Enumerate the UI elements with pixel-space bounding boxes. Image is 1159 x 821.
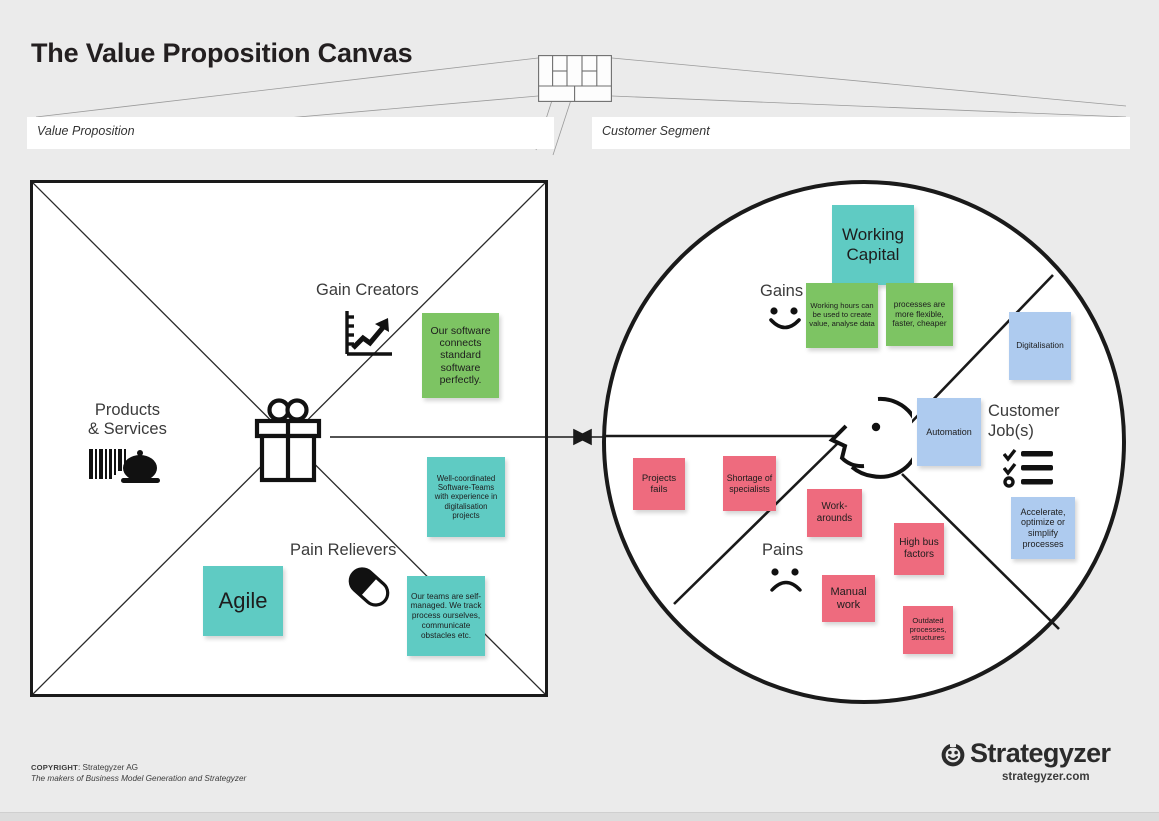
value-proposition-header-bar: Value Proposition [27, 117, 554, 149]
gift-box-icon [253, 398, 323, 486]
sticky-note[interactable]: Projects fails [633, 458, 685, 510]
sticky-note[interactable]: Work-arounds [807, 489, 862, 537]
sticky-note[interactable]: Agile [203, 566, 283, 636]
sticky-note[interactable]: processes are more flexible, faster, che… [886, 283, 953, 346]
sticky-note[interactable]: High bus factors [894, 523, 944, 575]
label-pains: Pains [762, 541, 803, 560]
sticky-note[interactable]: Our software connects standard software … [422, 313, 499, 398]
smiley-face-icon [765, 305, 805, 335]
strategyzer-logo-text: Strategyzer [970, 738, 1110, 769]
footer-copyright-label: COPYRIGHT [31, 763, 78, 772]
strategyzer-smiley-logo-icon [940, 742, 966, 768]
sticky-note[interactable]: Well-coordinated Software-Teams with exp… [427, 457, 505, 537]
sticky-note[interactable]: Accelerate, optimize or simplify process… [1011, 497, 1075, 559]
sticky-note[interactable]: Shortage of specialists [723, 456, 776, 511]
value-proposition-header-label: Value Proposition [37, 124, 135, 138]
customer-segment-header-bar: Customer Segment [592, 117, 1130, 149]
strategyzer-url: strategyzer.com [1002, 771, 1090, 783]
label-pain-relievers: Pain Relievers [290, 541, 396, 560]
fit-arrow-right [330, 424, 610, 450]
bottom-strip [0, 812, 1159, 821]
sticky-note[interactable]: Working Capital [832, 205, 914, 285]
footer-copyright-owner: : Strategyzer AG [78, 763, 138, 772]
sticky-note[interactable]: Our teams are self-managed. We track pro… [407, 576, 485, 656]
sad-face-icon [766, 566, 806, 598]
customer-segment-header-label: Customer Segment [602, 124, 710, 138]
sticky-note[interactable]: Manual work [822, 575, 875, 622]
sticky-note[interactable]: Outdated processes, structures [903, 606, 953, 654]
label-gain-creators: Gain Creators [316, 281, 419, 300]
sticky-note[interactable]: Working hours can be used to create valu… [806, 283, 878, 348]
footer-tagline: The makers of Business Model Generation … [31, 773, 246, 784]
label-products-services: Products & Services [88, 401, 167, 439]
barcode-and-service-dome-icon [88, 447, 166, 485]
growth-chart-icon [342, 308, 394, 360]
customer-head-profile-icon [826, 396, 912, 480]
checklist-icon [1003, 448, 1055, 490]
page-title: The Value Proposition Canvas [31, 38, 413, 69]
label-gains: Gains [760, 282, 803, 301]
label-customer-jobs: Customer Job(s) [988, 401, 1060, 441]
pill-icon [345, 565, 393, 609]
sticky-note[interactable]: Digitalisation [1009, 312, 1071, 380]
footer-copyright: COPYRIGHT: Strategyzer AG The makers of … [31, 762, 246, 784]
business-model-canvas-icon [538, 55, 612, 102]
value-proposition-canvas: The Value Proposition Canvas Value Propo… [0, 0, 1159, 821]
sticky-note[interactable]: Automation [917, 398, 981, 466]
